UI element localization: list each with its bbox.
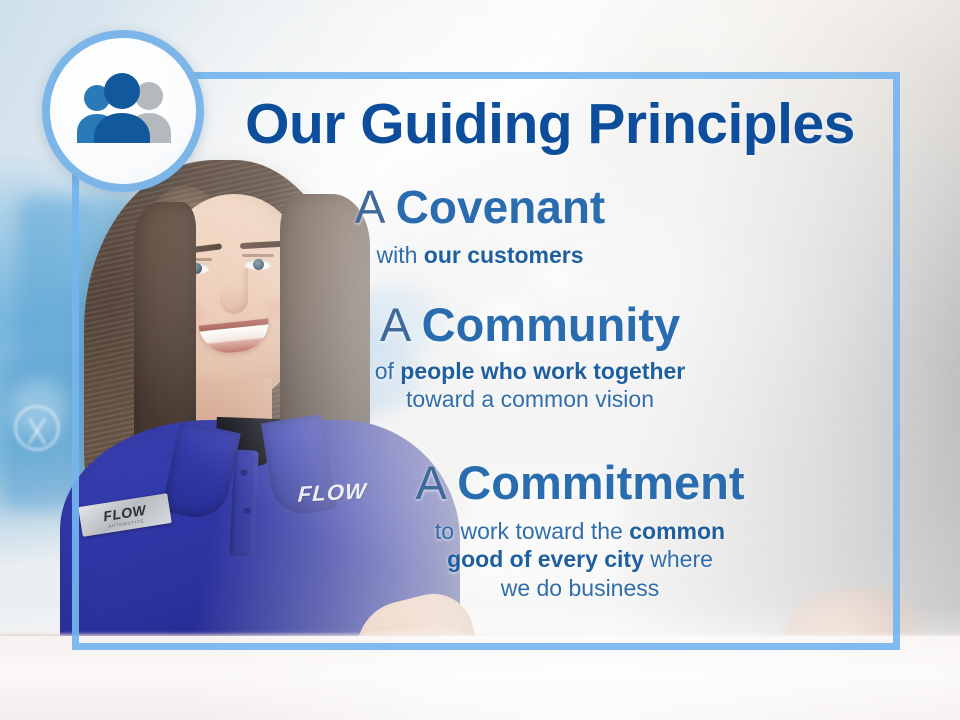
principle-block-commitment: A Commitment to work toward the commongo…	[300, 458, 860, 602]
emphasis-text: people who work together	[400, 358, 685, 384]
principle-subtext-line: of people who work together	[250, 357, 810, 386]
principle-block-covenant: A Covenant with our customers	[200, 183, 760, 269]
plain-text: with	[376, 242, 423, 268]
emphasis-text: good of every city	[447, 546, 644, 572]
principle-subtext-line: to work toward the common	[300, 517, 860, 546]
principle-article: A	[380, 298, 422, 351]
plain-text: of	[375, 358, 401, 384]
plain-text: we do business	[501, 575, 660, 601]
plain-text: to work toward the	[435, 518, 629, 544]
principle-subtext-line: we do business	[300, 574, 860, 603]
emphasis-text: common	[629, 518, 725, 544]
principle-block-community: A Community of people who work togethert…	[250, 300, 810, 414]
desk-surface	[0, 636, 960, 720]
principle-subtext: of people who work togethertoward a comm…	[250, 357, 810, 414]
banner-graphic: FLOW FLOW AUTOMOTIVE	[0, 0, 960, 720]
people-group-badge	[42, 30, 204, 192]
principle-subtext-line: with our customers	[200, 241, 760, 270]
bokeh-blob	[10, 380, 66, 436]
principle-heading: A Commitment	[300, 458, 860, 508]
principle-noun: Covenant	[396, 181, 606, 233]
principle-subtext-line: good of every city where	[300, 545, 860, 574]
principle-noun: Commitment	[457, 456, 744, 509]
principle-subtext: to work toward the commongood of every c…	[300, 517, 860, 603]
principle-subtext: with our customers	[200, 241, 760, 270]
principle-heading: A Covenant	[200, 183, 760, 232]
plain-text: toward a common vision	[406, 386, 654, 412]
principle-subtext-line: toward a common vision	[250, 385, 810, 414]
principle-heading: A Community	[250, 300, 810, 350]
principle-article: A	[355, 181, 396, 233]
people-group-icon	[71, 72, 175, 150]
principle-article: A	[415, 456, 457, 509]
principle-noun: Community	[422, 298, 681, 351]
page-title: Our Guiding Principles	[210, 96, 890, 153]
emphasis-text: our customers	[424, 242, 584, 268]
plain-text: where	[644, 546, 713, 572]
